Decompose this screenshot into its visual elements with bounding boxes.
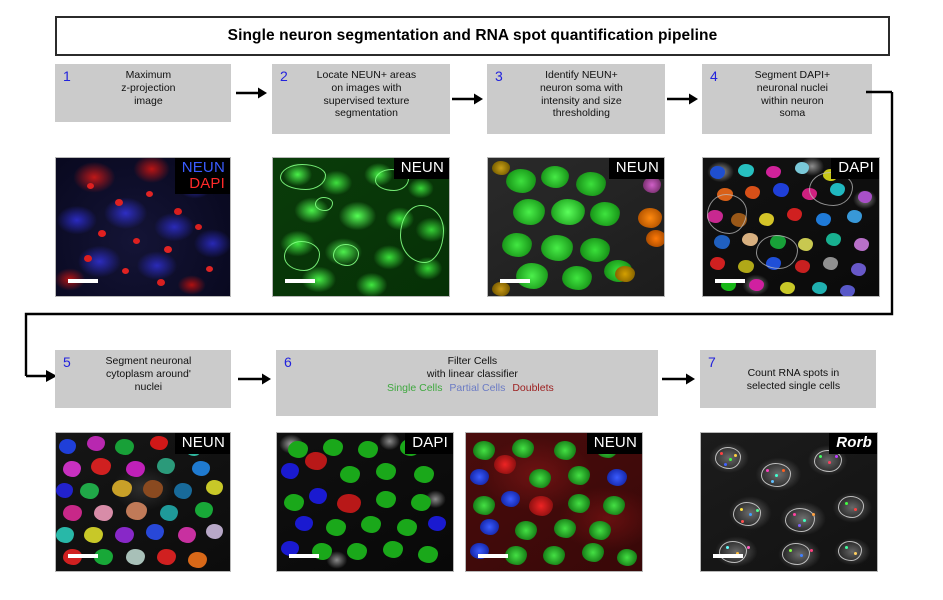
- caption-line: nuclei: [74, 381, 223, 394]
- step-number-2: 2: [280, 69, 288, 84]
- step-number-3: 3: [495, 69, 503, 84]
- caption-line: Filter Cells: [295, 355, 650, 368]
- arrow-step6-to-step7: [662, 372, 696, 386]
- scale-bar: [289, 554, 319, 558]
- legend-partial-cells: Partial Cells: [449, 382, 505, 394]
- classifier-legend: Single Cells Partial Cells Doublets: [295, 382, 650, 395]
- channel-label-6-neun: NEUN: [587, 433, 642, 454]
- step-number-4: 4: [710, 69, 718, 84]
- caption-line: Segment neuronal: [74, 355, 223, 368]
- scale-bar: [500, 279, 530, 283]
- scale-bar: [68, 554, 98, 558]
- micrograph-panel-6-dapi: DAPI: [276, 432, 454, 572]
- pipeline-figure: Single neuron segmentation and RNA spot …: [0, 0, 943, 600]
- channel-name: DAPI: [412, 435, 448, 451]
- micrograph-panel-5: NEUN: [55, 432, 231, 572]
- caption-line: Segment DAPI+: [721, 69, 864, 82]
- step-number-1: 1: [63, 69, 71, 84]
- channel-name: DAPI: [838, 160, 874, 176]
- channel-name: NEUN: [594, 435, 637, 451]
- channel-label-4: DAPI: [831, 158, 879, 179]
- channel-label-5: NEUN: [175, 433, 230, 454]
- micrograph-panel-6-neun: NEUN: [465, 432, 643, 572]
- arrow-step5-to-step6: [238, 372, 272, 386]
- channel-name: NEUN: [401, 160, 444, 176]
- channel-name: DAPI: [182, 176, 225, 192]
- caption-line: cytoplasm around': [74, 368, 223, 381]
- step-number-6: 6: [284, 355, 292, 370]
- step-caption-7: Count RNA spots in selected single cells: [719, 355, 872, 393]
- step-caption-5: Segment neuronal cytoplasm around' nucle…: [74, 355, 227, 393]
- channel-name: NEUN: [182, 435, 225, 451]
- step-box-5: 5 Segment neuronal cytoplasm around' nuc…: [55, 350, 231, 408]
- channel-label-2: NEUN: [394, 158, 449, 179]
- step-number-7: 7: [708, 355, 716, 370]
- channel-label-6-dapi: DAPI: [405, 433, 453, 454]
- page-title: Single neuron segmentation and RNA spot …: [228, 27, 718, 45]
- caption-line: Locate NEUN+ areas: [291, 69, 442, 82]
- caption-line: selected single cells: [719, 380, 868, 393]
- micrograph-panel-7: Rorb: [700, 432, 878, 572]
- step-box-6: 6 Filter Cells with linear classifier Si…: [276, 350, 658, 416]
- legend-single-cells: Single Cells: [387, 382, 442, 394]
- caption-line: Count RNA spots in: [719, 367, 868, 380]
- channel-label-3: NEUN: [609, 158, 664, 179]
- scale-bar: [478, 554, 508, 558]
- connector-wrap-path: [16, 88, 926, 388]
- scale-bar: [713, 554, 743, 558]
- gene-name: Rorb: [836, 435, 872, 451]
- legend-doublets: Doublets: [512, 382, 553, 394]
- scale-bar: [68, 279, 98, 283]
- caption-line: with linear classifier: [295, 368, 650, 381]
- channel-name: NEUN: [616, 160, 659, 176]
- scale-bar: [715, 279, 745, 283]
- channel-label-7: Rorb: [829, 433, 877, 454]
- step-number-5: 5: [63, 355, 71, 370]
- channel-label-1: NEUN DAPI: [175, 158, 230, 194]
- step-box-7: 7 Count RNA spots in selected single cel…: [700, 350, 876, 408]
- caption-line: Maximum: [74, 69, 223, 82]
- scale-bar: [285, 279, 315, 283]
- channel-name: NEUN: [182, 160, 225, 176]
- figure-title-banner: Single neuron segmentation and RNA spot …: [55, 16, 890, 56]
- caption-line: Identify NEUN+: [506, 69, 657, 82]
- step-caption-6: Filter Cells with linear classifier Sing…: [295, 355, 654, 394]
